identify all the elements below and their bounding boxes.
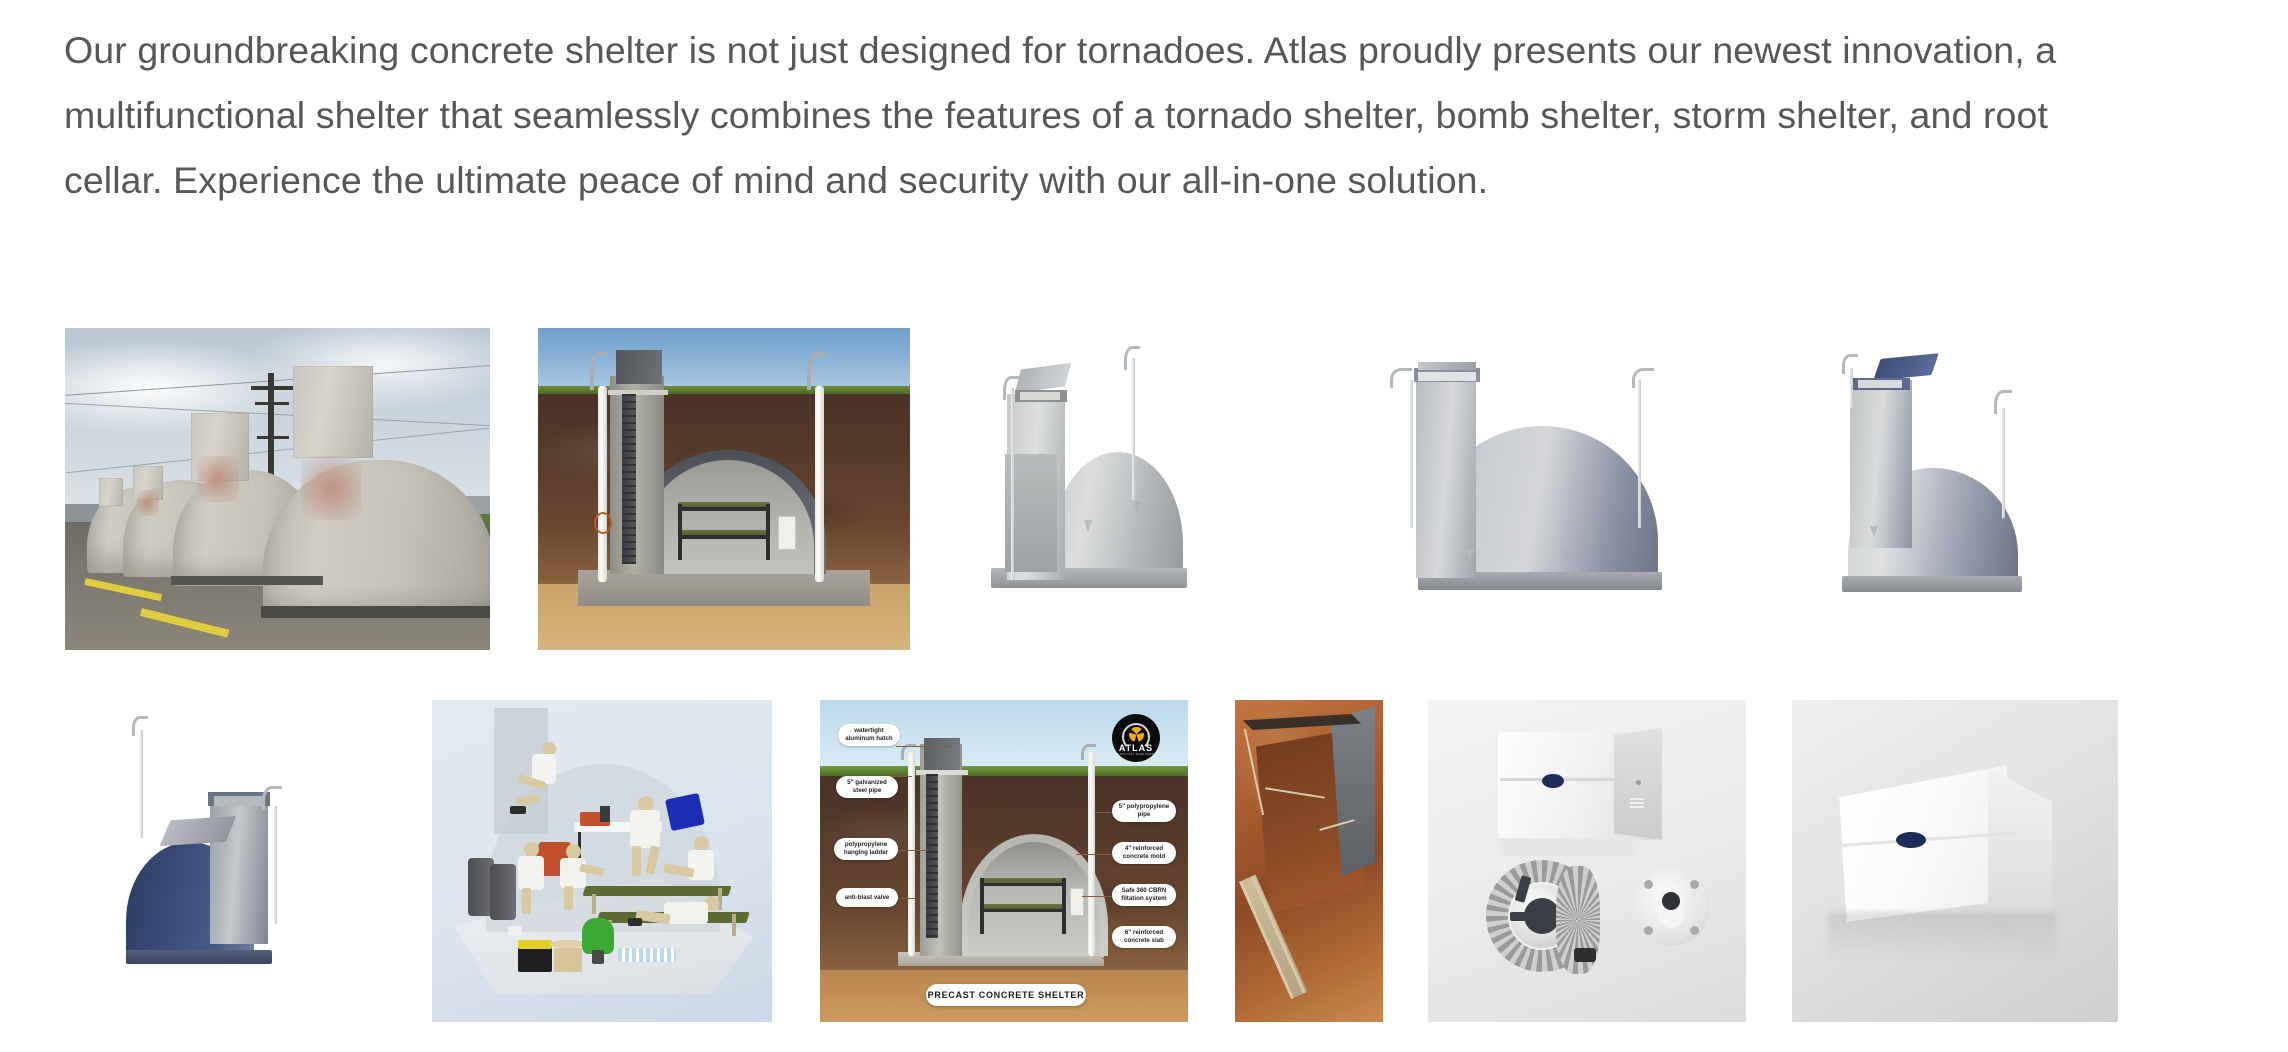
diagram-caption: PRECAST CONCRETE SHELTER bbox=[926, 984, 1086, 1006]
intro-paragraph: Our groundbreaking concrete shelter is n… bbox=[64, 18, 2094, 213]
air-filtration-system-photo bbox=[1428, 700, 1746, 1022]
thumb-air-filtration-unit-photo[interactable] bbox=[1792, 700, 2118, 1022]
diagram-label-right-2: Safe 360 CBRN filtation system bbox=[1112, 884, 1176, 906]
diagram-label-right-3: 6" reinforced concrete slab bbox=[1112, 926, 1176, 948]
shelter-interior-cutaway-render bbox=[432, 700, 772, 1022]
page-root: Our groundbreaking concrete shelter is n… bbox=[0, 0, 2288, 1052]
thumb-shelter-3d-render-blue-top[interactable] bbox=[110, 700, 350, 1022]
thumb-shelter-interior-cutaway-render[interactable] bbox=[432, 700, 772, 1022]
thumb-shelter-3d-render-front[interactable] bbox=[1370, 328, 1710, 650]
diagram-label-right-0: 5" polypropylene pipe bbox=[1112, 800, 1176, 822]
diagram-label-right-1: 4" reinforced concrete mold bbox=[1112, 842, 1176, 864]
thumb-underground-cutaway-render[interactable] bbox=[538, 328, 910, 650]
thumb-concrete-shelters-on-lot-photo[interactable] bbox=[65, 328, 490, 650]
thumb-shelter-3d-render-angled[interactable] bbox=[1800, 328, 2100, 650]
gallery-row-1 bbox=[0, 328, 2288, 650]
atlas-logo: ATLAS SURVIVAL SHELTERS bbox=[1112, 714, 1160, 762]
concrete-shelters-on-lot-photo bbox=[65, 328, 490, 650]
thumb-excavation-site-photo[interactable] bbox=[1235, 700, 1383, 1022]
atlas-logo-subtitle: SURVIVAL SHELTERS bbox=[1118, 753, 1155, 756]
shelter-3d-render-blue-top bbox=[110, 700, 350, 1022]
thumb-air-filtration-system-photo[interactable] bbox=[1428, 700, 1746, 1022]
diagram-label-left-1: 5" galvanized steel pipe bbox=[836, 776, 898, 798]
diagram-label-left-0: watertight aluminum hatch bbox=[838, 724, 900, 746]
diagram-label-left-2: polypropylene hanging ladder bbox=[834, 838, 898, 860]
thumb-precast-concrete-shelter-diagram[interactable]: watertight aluminum hatch 5" galvanized … bbox=[820, 700, 1188, 1022]
shelter-3d-render-front bbox=[1370, 328, 1710, 650]
brand-badge-icon bbox=[1896, 832, 1926, 848]
precast-concrete-shelter-diagram: watertight aluminum hatch 5" galvanized … bbox=[820, 700, 1188, 1022]
brand-badge-icon bbox=[1542, 774, 1564, 788]
thumb-shelter-3d-render-hatch-open[interactable] bbox=[965, 328, 1250, 650]
diagram-label-left-3: anti-blast valve bbox=[836, 888, 898, 907]
shelter-3d-render-hatch-open bbox=[965, 328, 1250, 650]
air-filtration-unit-photo bbox=[1792, 700, 2118, 1022]
gallery-row-2: watertight aluminum hatch 5" galvanized … bbox=[0, 700, 2288, 1022]
excavation-site-photo bbox=[1235, 700, 1383, 1022]
underground-cutaway-render bbox=[538, 328, 910, 650]
shelter-3d-render-angled bbox=[1800, 328, 2100, 650]
